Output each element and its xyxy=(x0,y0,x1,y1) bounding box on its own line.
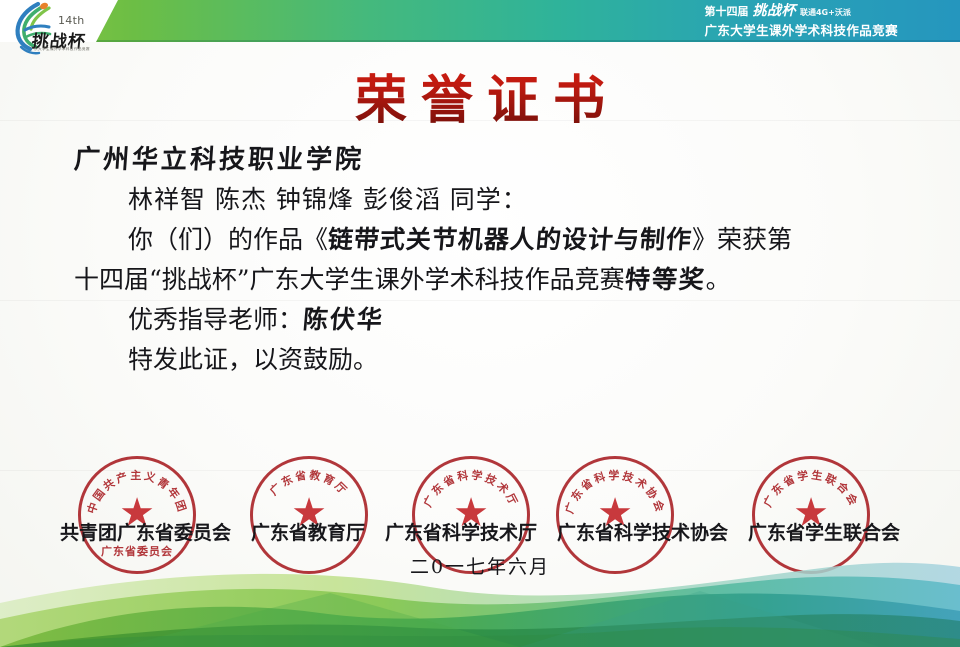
certificate-body: 广州华立科技职业学院 林祥智 陈杰 钟锦烽 彭俊滔 同学： 你（们）的作品《链带… xyxy=(0,140,960,380)
issuer-org-0: 共青团广东省委员会 xyxy=(60,518,231,545)
advisor-line: 优秀指导老师：陈伏华 xyxy=(128,300,960,340)
header-banner-text: 第十四届 挑战杯 联通4G+沃派 广东大学生课外学术科技作品竞赛 xyxy=(704,3,898,38)
header-sponsor-tag: 联通4G+沃派 xyxy=(800,8,851,18)
school-name-line: 广州华立科技职业学院 xyxy=(0,140,960,180)
issuer-org-3: 广东省科学技术协会 xyxy=(557,518,728,545)
logo-subtitle: 广东大学生课外学术科技作品竞赛 xyxy=(30,47,90,52)
issue-date: 二0一七年六月 xyxy=(0,552,960,579)
issuer-organizations: 共青团广东省委员会 广东省教育厅 广东省科学技术厅 广东省科学技术协会 广东省学… xyxy=(0,518,960,545)
recipients-line: 林祥智 陈杰 钟锦烽 彭俊滔 同学： xyxy=(128,180,960,220)
award-text-prefix: 你（们）的作品《 xyxy=(128,225,328,254)
closing-line: 特发此证，以资鼓励。 xyxy=(128,340,960,380)
advisor-label: 优秀指导老师： xyxy=(128,305,303,334)
award-period: 。 xyxy=(706,265,731,294)
award-line-2: 十四届“挑战杯”广东大学生课外学术科技作品竞赛特等奖。 xyxy=(74,260,960,300)
certificate-title: 荣誉证书 xyxy=(0,58,960,133)
header-banner-line1: 第十四届 挑战杯 联通4G+沃派 xyxy=(704,3,898,21)
header-banner-line2: 广东大学生课外学术科技作品竞赛 xyxy=(704,23,898,39)
award-text-suffix: 》荣获第 xyxy=(692,225,792,254)
certificate-page: 14th 挑战杯 广东大学生课外学术科技作品竞赛 第十四届 挑战杯 联通4G+沃… xyxy=(0,0,960,647)
logo-edition-label: 14th xyxy=(58,14,84,27)
advisor-name: 陈伏华 xyxy=(301,300,386,340)
header-edition-prefix: 第十四届 xyxy=(704,5,748,19)
award-level: 特等奖 xyxy=(623,260,708,300)
work-title: 链带式关节机器人的设计与制作 xyxy=(326,220,694,260)
competition-name: 十四届“挑战杯”广东大学生课外学术科技作品竞赛 xyxy=(74,265,625,294)
issuer-org-4: 广东省学生联合会 xyxy=(748,518,900,545)
header-cup-name: 挑战杯 xyxy=(752,3,796,21)
issuer-org-1: 广东省教育厅 xyxy=(251,518,365,545)
issuer-org-2: 广东省科学技术厅 xyxy=(385,518,537,545)
school-name: 广州华立科技职业学院 xyxy=(73,140,366,180)
challenge-cup-logo: 14th 挑战杯 广东大学生课外学术科技作品竞赛 xyxy=(8,0,94,58)
award-line-1: 你（们）的作品《链带式关节机器人的设计与制作》荣获第 xyxy=(128,220,960,260)
